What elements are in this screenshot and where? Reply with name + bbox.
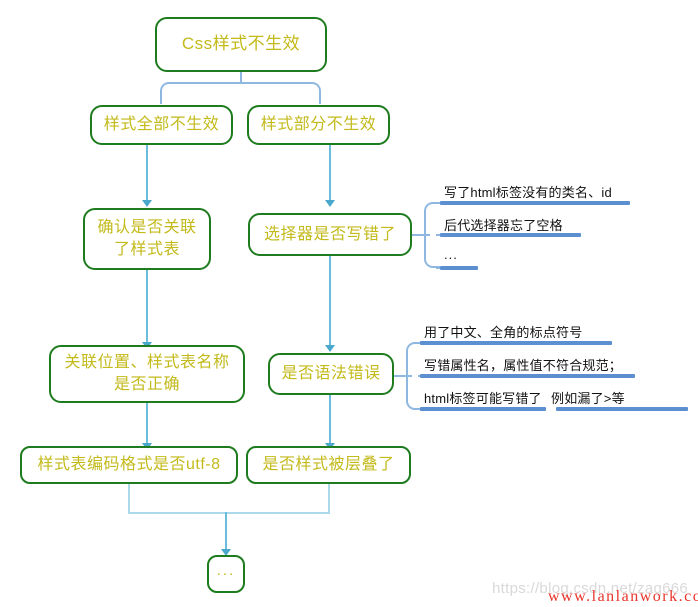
- connector-root-stem: [240, 72, 242, 82]
- annotation-selector-3: ...: [444, 247, 458, 262]
- connector-position-to-encoding: [146, 403, 148, 447]
- annotation-rule-syntax-1: [420, 341, 612, 345]
- node-encoding-utf8[interactable]: 样式表编码格式是否utf-8: [20, 446, 238, 484]
- node-partial-fail[interactable]: 样式部分不生效: [247, 105, 390, 145]
- annotation-selector-1: 写了html标签没有的类名、id: [444, 182, 612, 201]
- annotation-syntax-4: 例如漏了>等: [551, 388, 625, 407]
- node-overridden[interactable]: 是否样式被层叠了: [246, 446, 411, 484]
- connector-encoding-down: [128, 484, 130, 513]
- node-more[interactable]: ...: [207, 555, 245, 593]
- annotation-rule-selector-1: [440, 201, 630, 205]
- node-root[interactable]: Css样式不生效: [155, 17, 327, 72]
- connector-syntax-to-overridden: [329, 395, 331, 447]
- annotation-syntax-2: 写错属性名，属性值不符合规范；: [424, 355, 622, 374]
- flowchart-canvas: Css样式不生效 样式全部不生效 样式部分不生效 确认是否关联 了样式表 关联位…: [0, 0, 698, 607]
- watermark-site-url: www.lanlanwork.com: [548, 588, 698, 606]
- node-all-fail[interactable]: 样式全部不生效: [90, 105, 233, 145]
- connector-overridden-down: [328, 484, 330, 513]
- annotation-rule-selector-2: [440, 233, 581, 237]
- annotation-syntax-3: html标签可能写错了: [424, 388, 542, 407]
- connector-confirm-to-position: [146, 270, 148, 344]
- annotation-rule-syntax-4: [556, 407, 688, 411]
- connector-partialfail-to-selector: [329, 145, 331, 202]
- arrowhead-confirm: [142, 200, 152, 207]
- arrowhead-selector: [325, 200, 335, 207]
- annotation-rule-selector-3: [440, 266, 478, 270]
- annotation-selector-2: 后代选择器忘了空格: [444, 215, 563, 234]
- connector-root-splitter: [160, 82, 321, 104]
- annotation-rule-syntax-2: [420, 374, 635, 378]
- node-syntax-error[interactable]: 是否语法错误: [268, 353, 394, 395]
- node-selector-wrong[interactable]: 选择器是否写错了: [248, 213, 412, 256]
- connector-merge-bar: [128, 512, 330, 514]
- annotation-syntax-1: 用了中文、全角的标点符号: [424, 322, 582, 341]
- connector-allfail-to-confirm: [146, 145, 148, 202]
- arrowhead-syntax: [325, 345, 335, 352]
- connector-merge-to-more: [225, 512, 227, 553]
- connector-selector-to-syntax: [329, 256, 331, 347]
- node-link-position[interactable]: 关联位置、样式表名称 是否正确: [49, 345, 245, 403]
- annotation-rule-syntax-3: [420, 407, 546, 411]
- node-confirm-link[interactable]: 确认是否关联 了样式表: [83, 208, 211, 270]
